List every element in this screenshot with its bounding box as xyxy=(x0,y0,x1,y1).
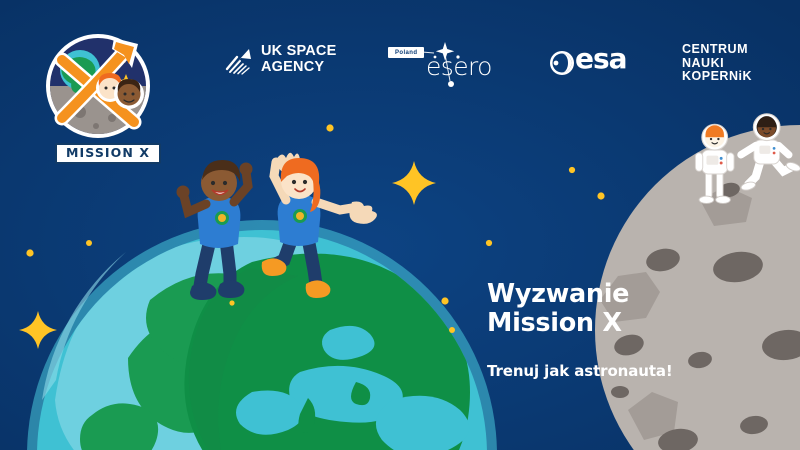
centrum-nauki-kopernik-logo[interactable]: CENTRUM NAUKI KOPERNiK xyxy=(682,43,752,84)
star-dot-4 xyxy=(486,240,492,246)
uk-space-agency-line2: AGENCY xyxy=(261,60,336,76)
esa-wordmark: esa xyxy=(575,45,627,73)
uk-space-agency-logo[interactable]: UK SPACE AGENCY xyxy=(225,44,336,75)
uk-space-agency-arrow-icon xyxy=(225,45,255,75)
star-dot-8 xyxy=(86,240,92,246)
star-dot-3 xyxy=(597,192,604,199)
mission-x-wordmark: MISSION X xyxy=(55,143,161,165)
star-dot-1 xyxy=(326,124,333,131)
cnk-line3: KOPERNiK xyxy=(682,70,752,84)
cnk-line1: CENTRUM xyxy=(682,43,752,57)
star-dot-9 xyxy=(229,300,234,305)
esa-globe-icon xyxy=(549,50,575,76)
poster-canvas: MISSION X UK SPACE AGENCY xyxy=(0,0,800,450)
partner-logo-bar: MISSION X UK SPACE AGENCY xyxy=(0,0,800,112)
cnk-line2: NAUKI xyxy=(682,57,752,71)
star-dot-7 xyxy=(26,249,33,256)
headline-block: Wyzwanie Mission X Trenuj jak astronauta… xyxy=(487,280,673,380)
mission-x-badge[interactable]: MISSION X xyxy=(28,26,168,166)
uk-space-agency-line1: UK SPACE xyxy=(261,44,336,60)
esero-poland-logo[interactable]: Poland esero xyxy=(388,40,498,92)
headline-line-2: Mission X xyxy=(487,309,673,338)
headline-line-1: Wyzwanie xyxy=(487,280,673,309)
esero-wordmark: esero xyxy=(426,54,492,79)
subheadline: Trenuj jak astronauta! xyxy=(487,362,673,380)
star-dot-2 xyxy=(569,167,575,173)
star-dot-5 xyxy=(441,297,448,304)
star-dot-6 xyxy=(449,327,455,333)
esero-country-badge: Poland xyxy=(388,47,424,58)
esa-logo[interactable]: esa xyxy=(553,45,627,73)
